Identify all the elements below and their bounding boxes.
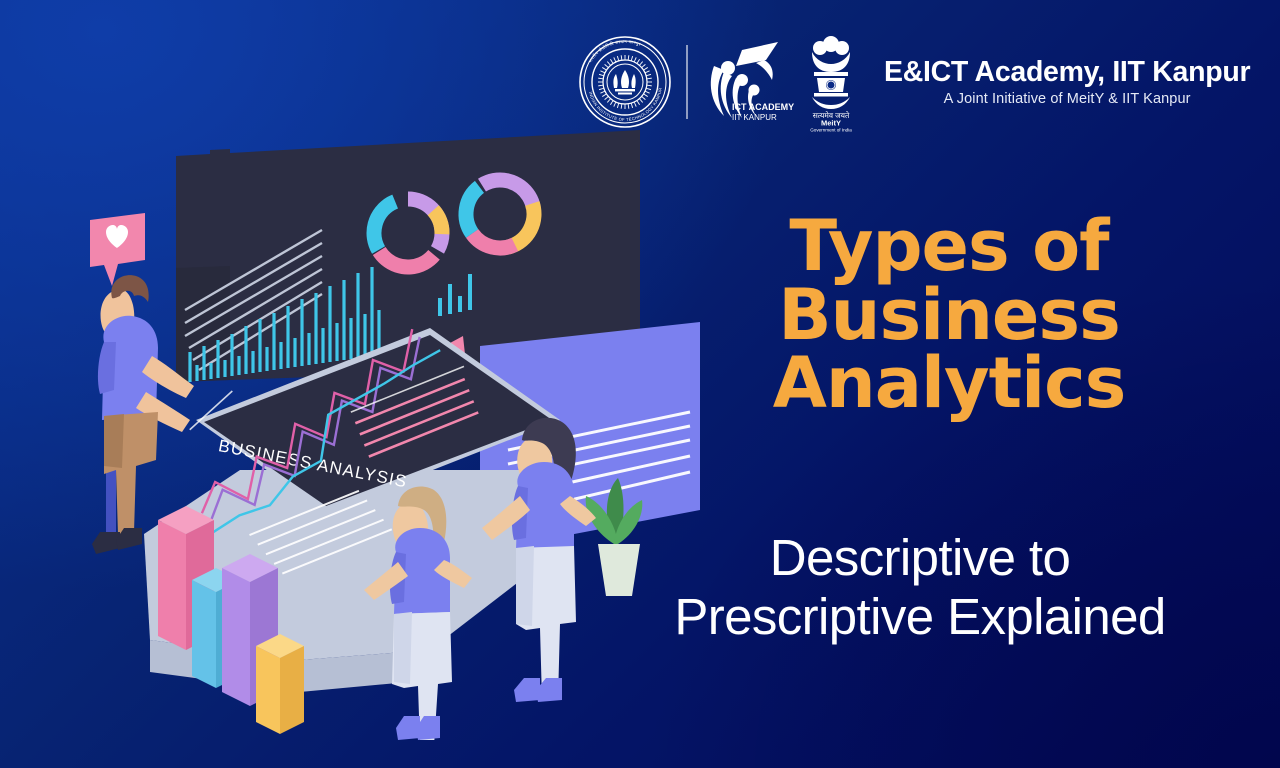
business-analytics-illustration: BUSINESS ANALYSIS <box>0 120 700 740</box>
poster-canvas: BUSINESS ANALYSIS <box>0 0 1280 768</box>
bar-4-yellow <box>256 634 304 734</box>
brand-text-block: E&ICT Academy, IIT Kanpur A Joint Initia… <box>884 57 1250 108</box>
brand-header: भारतीय प्रौद्योगिकी संस्थान कानपुर INDIA… <box>572 34 1250 130</box>
subheadline-line-2: Prescriptive Explained <box>600 587 1240 646</box>
headline-line-2: Business <box>714 281 1184 350</box>
headline-line-1: Types of <box>714 212 1184 281</box>
subheadline-line-1: Descriptive to <box>600 528 1240 587</box>
page-subtitle: Descriptive to Prescriptive Explained <box>600 528 1240 646</box>
headline-line-3: Analytics <box>714 349 1184 418</box>
brand-subtitle: A Joint Initiative of MeitY & IIT Kanpur <box>944 91 1191 107</box>
page-title: Types of Business Analytics <box>714 212 1184 418</box>
ict-academy-logo-line2: IIT KANPUR <box>732 113 777 122</box>
iit-kanpur-seal-logo: भारतीय प्रौद्योगिकी संस्थान कानपुर INDIA… <box>572 34 678 130</box>
ict-academy-logo-line1: ICT ACADEMY <box>732 102 794 112</box>
heart-speech-bubble-icon <box>90 213 145 286</box>
brand-title: E&ICT Academy, IIT Kanpur <box>884 57 1250 88</box>
meity-emblem-logo: सत्यमेव जयते MeitY Government of India <box>800 32 862 132</box>
meity-label: MeitY <box>821 119 841 128</box>
brand-divider <box>686 45 688 119</box>
ict-academy-logo: ICT ACADEMY IIT KANPUR <box>702 36 794 128</box>
meity-sublabel: Government of India <box>810 128 852 133</box>
